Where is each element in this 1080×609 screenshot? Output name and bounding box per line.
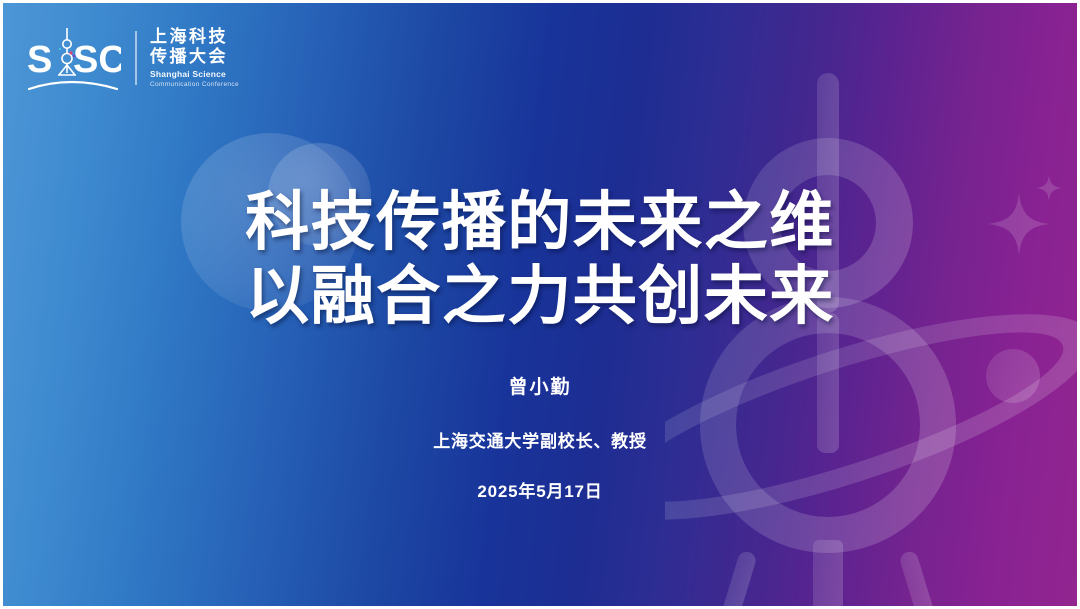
conference-logo: S SC 上海科技 传播大会 Shanghai bbox=[25, 21, 239, 95]
logo-text-block: 上海科技 传播大会 Shanghai Science Communication… bbox=[150, 27, 239, 89]
logo-en-line-2: Communication Conference bbox=[150, 80, 239, 89]
svg-text:SC: SC bbox=[73, 39, 121, 81]
sscc-wordmark-with-tower-icon: S SC bbox=[25, 23, 121, 93]
speaker-info: 曾小勤 上海交通大学副校长、教授 2025年5月17日 bbox=[3, 375, 1077, 504]
svg-text:S: S bbox=[27, 39, 52, 81]
presentation-date: 2025年5月17日 bbox=[3, 480, 1077, 504]
logo-cn-line-2: 传播大会 bbox=[150, 47, 239, 67]
logo-cn-line-1: 上海科技 bbox=[150, 27, 239, 47]
logo-en-line-1: Shanghai Science bbox=[150, 69, 239, 80]
title-slide: S SC 上海科技 传播大会 Shanghai bbox=[0, 0, 1080, 609]
speaker-affiliation: 上海交通大学副校长、教授 bbox=[3, 430, 1077, 454]
speaker-name: 曾小勤 bbox=[3, 375, 1077, 401]
logo-divider bbox=[135, 31, 137, 85]
